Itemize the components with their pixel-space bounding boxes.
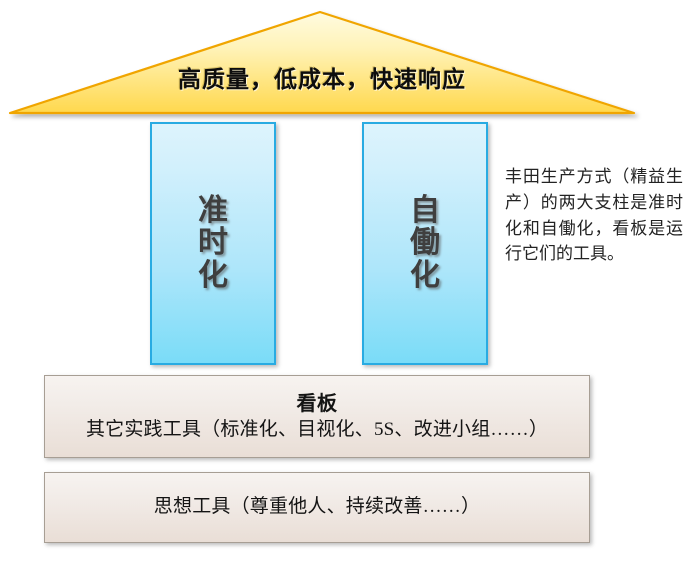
base-box-kanban-title: 看板 <box>297 392 338 417</box>
pillar-just-in-time-label: 准 时 化 <box>198 195 228 292</box>
base-box-kanban[interactable]: 看板 其它实践工具（标准化、目视化、5S、改进小组……） <box>44 375 590 458</box>
roof-shape <box>8 8 636 116</box>
base-box-mindset-subtitle: 思想工具（尊重他人、持续改善……） <box>154 495 480 520</box>
pillar-jidoka-label: 自 働 化 <box>410 195 440 292</box>
roof-polygon <box>10 12 634 113</box>
pillar-just-in-time[interactable]: 准 时 化 <box>150 122 276 365</box>
roof-triangle: 高质量，低成本，快速响应 <box>8 8 636 116</box>
base-box-mindset[interactable]: 思想工具（尊重他人、持续改善……） <box>44 472 590 543</box>
side-note-text: 丰田生产方式（精益生产）的两大支柱是准时化和自働化，看板是运行它们的工具。 <box>505 164 683 267</box>
pillar-jidoka[interactable]: 自 働 化 <box>362 122 488 365</box>
base-box-kanban-subtitle: 其它实践工具（标准化、目视化、5S、改进小组……） <box>86 418 548 443</box>
